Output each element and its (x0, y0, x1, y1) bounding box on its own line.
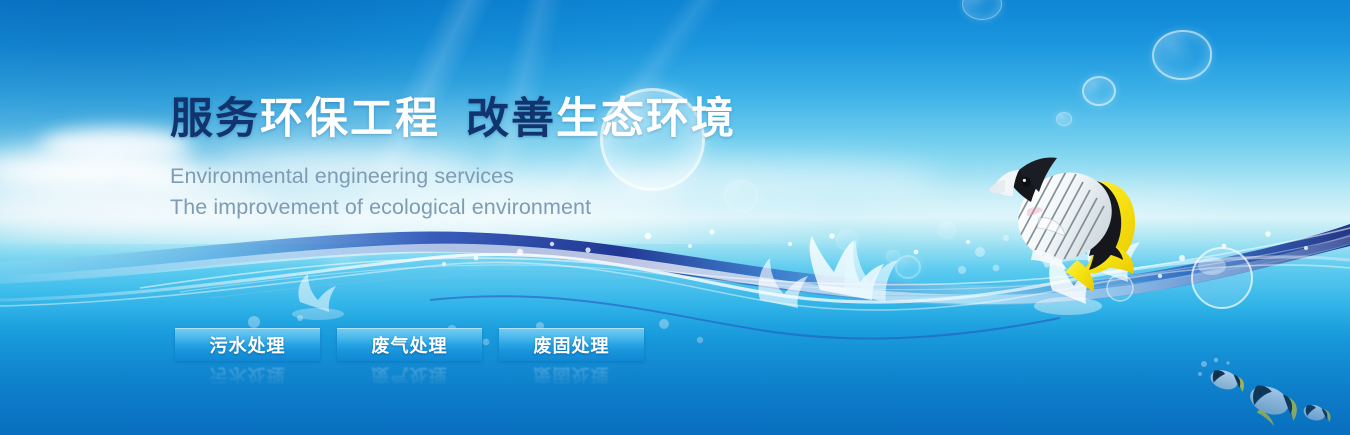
bubble-icon (1056, 112, 1072, 126)
bubble-icon (886, 250, 900, 263)
solid-waste-treatment-button[interactable]: 废固处理 (499, 328, 644, 361)
page-title: 服务环保工程改善生态环境 (170, 98, 810, 141)
butterflyfish-icon (985, 140, 1160, 300)
bubble-icon (1082, 76, 1116, 106)
deep-water-overlay (0, 305, 1350, 435)
headline-block: 服务环保工程改善生态环境 Environmental engineering s… (170, 98, 810, 223)
title-part-1: 服务 (170, 95, 260, 143)
waste-gas-treatment-reflection: 废气处理 (337, 363, 482, 389)
solid-waste-treatment-reflection: 废固处理 (499, 363, 644, 389)
bubble-icon (895, 255, 921, 279)
service-button-wrap-2: 废固处理 废固处理 (499, 328, 644, 361)
title-part-2: 环保工程 (260, 95, 440, 143)
title-part-4: 生态环境 (556, 95, 736, 143)
left-splash (292, 274, 344, 320)
waste-gas-treatment-button[interactable]: 废气处理 (337, 328, 482, 361)
bubble-icon (836, 230, 858, 250)
hero-banner: 服务环保工程改善生态环境 Environmental engineering s… (0, 0, 1350, 435)
service-button-wrap-1: 废气处理 废气处理 (337, 328, 482, 361)
small-fish-group-icon (1198, 358, 1350, 435)
bubble-icon (962, 0, 1002, 20)
title-part-3: 改善 (466, 95, 556, 143)
service-button-wrap-0: 污水处理 污水处理 (175, 328, 320, 361)
subtitle-line-2: The improvement of ecological environmen… (170, 192, 810, 223)
wastewater-treatment-button[interactable]: 污水处理 (175, 328, 320, 361)
service-button-row: 污水处理 污水处理 废气处理 废气处理 废固处理 废固处理 (175, 328, 644, 361)
bubble-icon (938, 222, 956, 238)
bubble-icon (1152, 30, 1212, 80)
water-droplets (442, 229, 1308, 278)
wave-bubble-icon (1192, 248, 1252, 308)
wastewater-treatment-reflection: 污水处理 (175, 363, 320, 389)
cloud-icon (40, 128, 190, 162)
subtitle-line-1: Environmental engineering services (170, 161, 810, 192)
